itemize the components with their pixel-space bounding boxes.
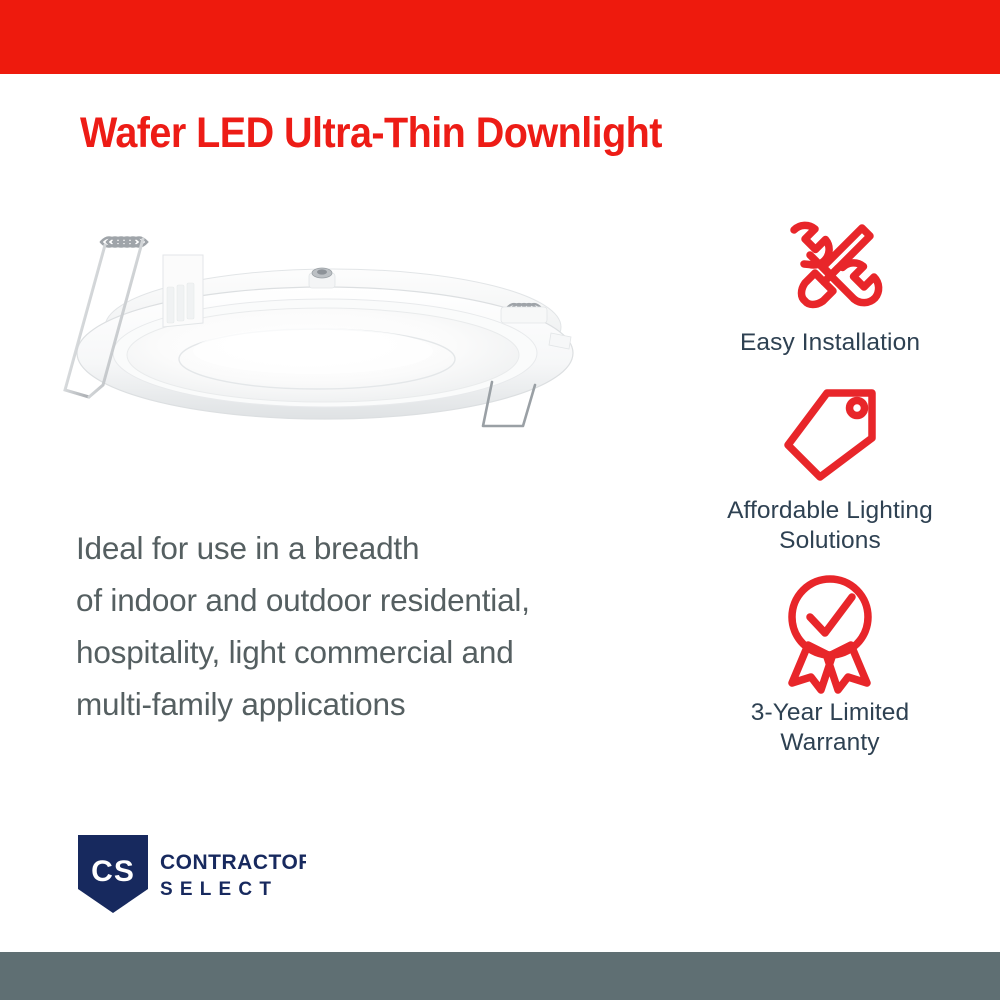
logo-word-top: CONTRACTOR — [160, 851, 306, 874]
red-header-band — [0, 0, 1000, 74]
page-title: Wafer LED Ultra-Thin Downlight — [80, 108, 662, 158]
feature-label: Affordable Lighting Solutions — [660, 496, 1000, 556]
gray-footer-band — [0, 952, 1000, 1000]
body-copy-line: Ideal for use in a breadth — [76, 522, 676, 574]
feature-item-affordable-lighting-solutions: Affordable Lighting Solutions — [660, 378, 1000, 556]
feature-item-3-year-limited-warranty: 3-Year Limited Warranty — [660, 574, 1000, 758]
feature-label-line: 3-Year Limited — [660, 698, 1000, 728]
body-copy-line: hospitality, light commercial and — [76, 626, 676, 678]
feature-list: Easy Installation Affordable Lighting So… — [660, 210, 1000, 776]
feature-item-easy-installation: Easy Installation — [660, 210, 1000, 358]
award-ribbon-check-icon — [660, 574, 1000, 692]
feature-label: 3-Year Limited Warranty — [660, 698, 1000, 758]
logo-word-bottom: SELECT — [160, 879, 278, 900]
feature-label-line: Solutions — [660, 526, 1000, 556]
contractor-select-logo: CS CONTRACTOR SELECT — [76, 833, 306, 915]
feature-label: Easy Installation — [660, 328, 1000, 358]
wrench-screwdriver-icon — [660, 210, 1000, 322]
price-tag-icon — [660, 378, 1000, 490]
feature-label-line: Easy Installation — [660, 328, 1000, 358]
feature-label-line: Warranty — [660, 728, 1000, 758]
body-copy-line: multi-family applications — [76, 678, 676, 730]
product-image — [55, 215, 625, 465]
body-copy-line: of indoor and outdoor residential, — [76, 574, 676, 626]
body-copy: Ideal for use in a breadth of indoor and… — [76, 522, 676, 730]
feature-label-line: Affordable Lighting — [660, 496, 1000, 526]
logo-monogram: CS — [91, 855, 135, 888]
